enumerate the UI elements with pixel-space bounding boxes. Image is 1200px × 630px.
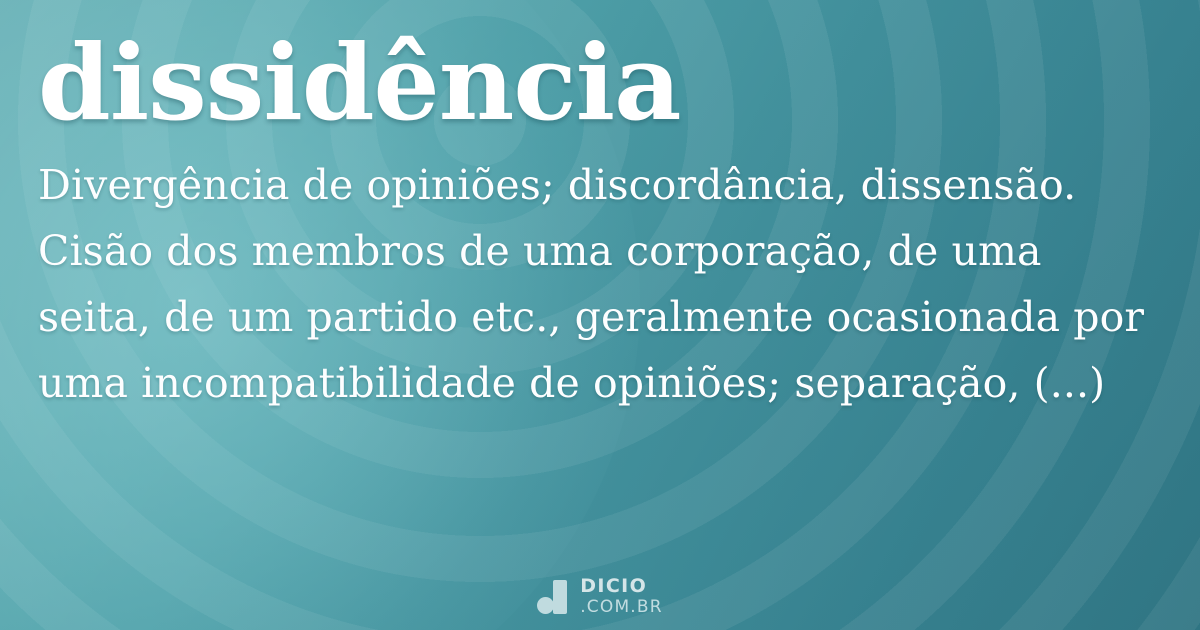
dictionary-entry-card: dissidência Divergência de opiniões; dis… [0, 0, 1200, 630]
logo-circle-shape [537, 597, 554, 614]
brand-tld: .COM.BR [580, 599, 663, 616]
dicio-logo-icon [537, 580, 567, 614]
card-content: dissidência Divergência de opiniões; dis… [0, 0, 1200, 630]
definition-item: Divergência de opiniões; discordância, d… [38, 152, 1166, 218]
definition-list: Divergência de opiniões; discordância, d… [38, 152, 1166, 416]
page-title: dissidência [38, 30, 1166, 136]
definition-item: Cisão dos membros de uma corporação, de … [38, 218, 1166, 416]
brand-text: DICIO .COM.BR [580, 577, 663, 616]
logo-bar-shape [553, 580, 567, 614]
brand-watermark: DICIO .COM.BR [0, 577, 1200, 616]
brand-name: DICIO [580, 577, 663, 596]
